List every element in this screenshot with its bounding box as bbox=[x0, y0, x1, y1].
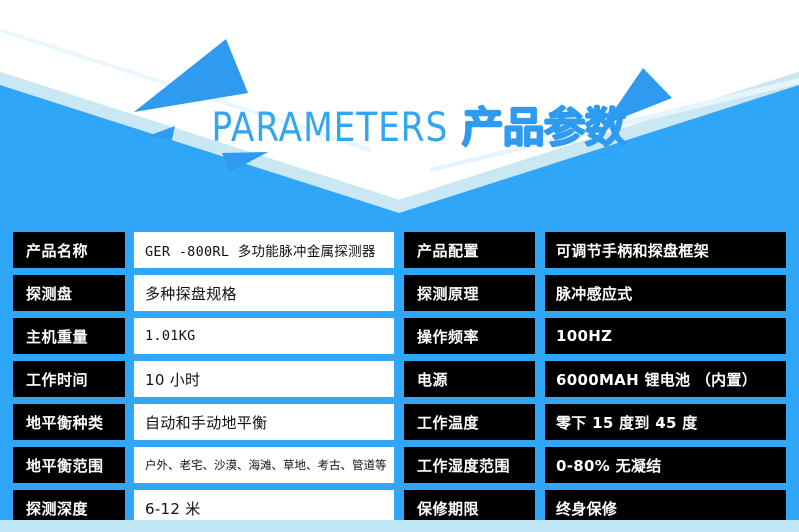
spec-label-product-name: 产品名称 bbox=[13, 232, 125, 268]
spec-value-working-temperature: 零下 15 度到 45 度 bbox=[545, 404, 786, 440]
banner-header: PARAMETERS 产品参数 bbox=[0, 0, 799, 232]
spec-label-ground-balance-range: 地平衡范围 bbox=[13, 447, 125, 483]
spec-label-operating-frequency: 操作频率 bbox=[404, 318, 535, 354]
spec-table: 产品名称 GER -800RL 多功能脉冲金属探测器 产品配置 可调节手柄和探盘… bbox=[0, 232, 799, 520]
spec-value-humidity-range: 0-80% 无凝结 bbox=[545, 447, 786, 483]
spec-label-working-temperature: 工作温度 bbox=[404, 404, 535, 440]
spec-label-ground-balance-type: 地平衡种类 bbox=[13, 404, 125, 440]
spec-value-host-weight: 1.01KG bbox=[134, 318, 394, 354]
table-row: 工作时间 10 小时 电源 6000MAH 锂电池 （内置） bbox=[0, 361, 799, 397]
spec-label-host-weight: 主机重量 bbox=[13, 318, 125, 354]
table-row: 探测盘 多种探盘规格 探测原理 脉冲感应式 bbox=[0, 275, 799, 311]
spec-value-ground-balance-range: 户外、老宅、沙漠、海滩、草地、考古、管道等 bbox=[134, 447, 394, 483]
spec-value-ground-balance-type: 自动和手动地平衡 bbox=[134, 404, 394, 440]
spec-value-product-name: GER -800RL 多功能脉冲金属探测器 bbox=[134, 232, 394, 268]
banner-background-graphic bbox=[0, 0, 799, 232]
spec-label-humidity-range: 工作湿度范围 bbox=[404, 447, 535, 483]
spec-value-product-config: 可调节手柄和探盘框架 bbox=[545, 232, 786, 268]
spec-value-detection-principle: 脉冲感应式 bbox=[545, 275, 786, 311]
spec-value-operating-frequency: 100HZ bbox=[545, 318, 786, 354]
spec-value-search-coil: 多种探盘规格 bbox=[134, 275, 394, 311]
spec-label-detection-principle: 探测原理 bbox=[404, 275, 535, 311]
bottom-accent-strip bbox=[0, 520, 799, 532]
spec-label-product-config: 产品配置 bbox=[404, 232, 535, 268]
spec-label-power-supply: 电源 bbox=[404, 361, 535, 397]
spec-value-power-supply: 6000MAH 锂电池 （内置） bbox=[545, 361, 786, 397]
table-row: 地平衡范围 户外、老宅、沙漠、海滩、草地、考古、管道等 工作湿度范围 0-80%… bbox=[0, 447, 799, 483]
spec-label-search-coil: 探测盘 bbox=[13, 275, 125, 311]
product-parameters-page: PARAMETERS 产品参数 产品名称 GER -800RL 多功能脉冲金属探… bbox=[0, 0, 799, 532]
spec-label-working-time: 工作时间 bbox=[13, 361, 125, 397]
table-row: 产品名称 GER -800RL 多功能脉冲金属探测器 产品配置 可调节手柄和探盘… bbox=[0, 232, 799, 268]
table-row: 地平衡种类 自动和手动地平衡 工作温度 零下 15 度到 45 度 bbox=[0, 404, 799, 440]
table-row: 主机重量 1.01KG 操作频率 100HZ bbox=[0, 318, 799, 354]
spec-value-working-time: 10 小时 bbox=[134, 361, 394, 397]
